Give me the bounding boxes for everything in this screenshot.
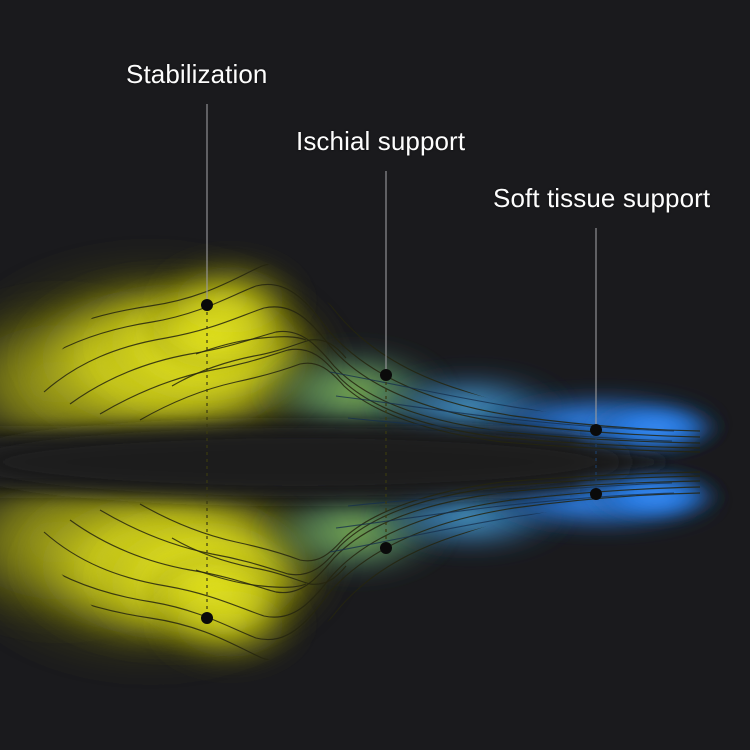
callout-label-soft-tissue-support: Soft tissue support	[493, 183, 710, 214]
pressure-map-diagram: Stabilization Ischial support Soft tissu…	[0, 0, 750, 750]
marker-dot-soft-tissue-support-mirror[interactable]	[590, 488, 602, 500]
blue-arm-tip-lower	[583, 468, 727, 524]
central-notch	[0, 428, 666, 496]
callout-label-ischial-support: Ischial support	[296, 126, 465, 157]
marker-dot-ischial-support[interactable]	[380, 369, 392, 381]
marker-dot-ischial-support-mirror[interactable]	[380, 542, 392, 554]
marker-dot-stabilization[interactable]	[201, 299, 213, 311]
yellow-ridge-upper	[144, 248, 316, 352]
marker-dot-soft-tissue-support[interactable]	[590, 424, 602, 436]
blue-arm-tip-upper	[583, 400, 727, 456]
notch-core-dark	[0, 428, 630, 496]
yellow-ridge-lower	[144, 572, 316, 676]
callout-label-stabilization: Stabilization	[126, 59, 268, 90]
heatmap-canvas	[0, 0, 750, 750]
marker-dot-stabilization-mirror[interactable]	[201, 612, 213, 624]
